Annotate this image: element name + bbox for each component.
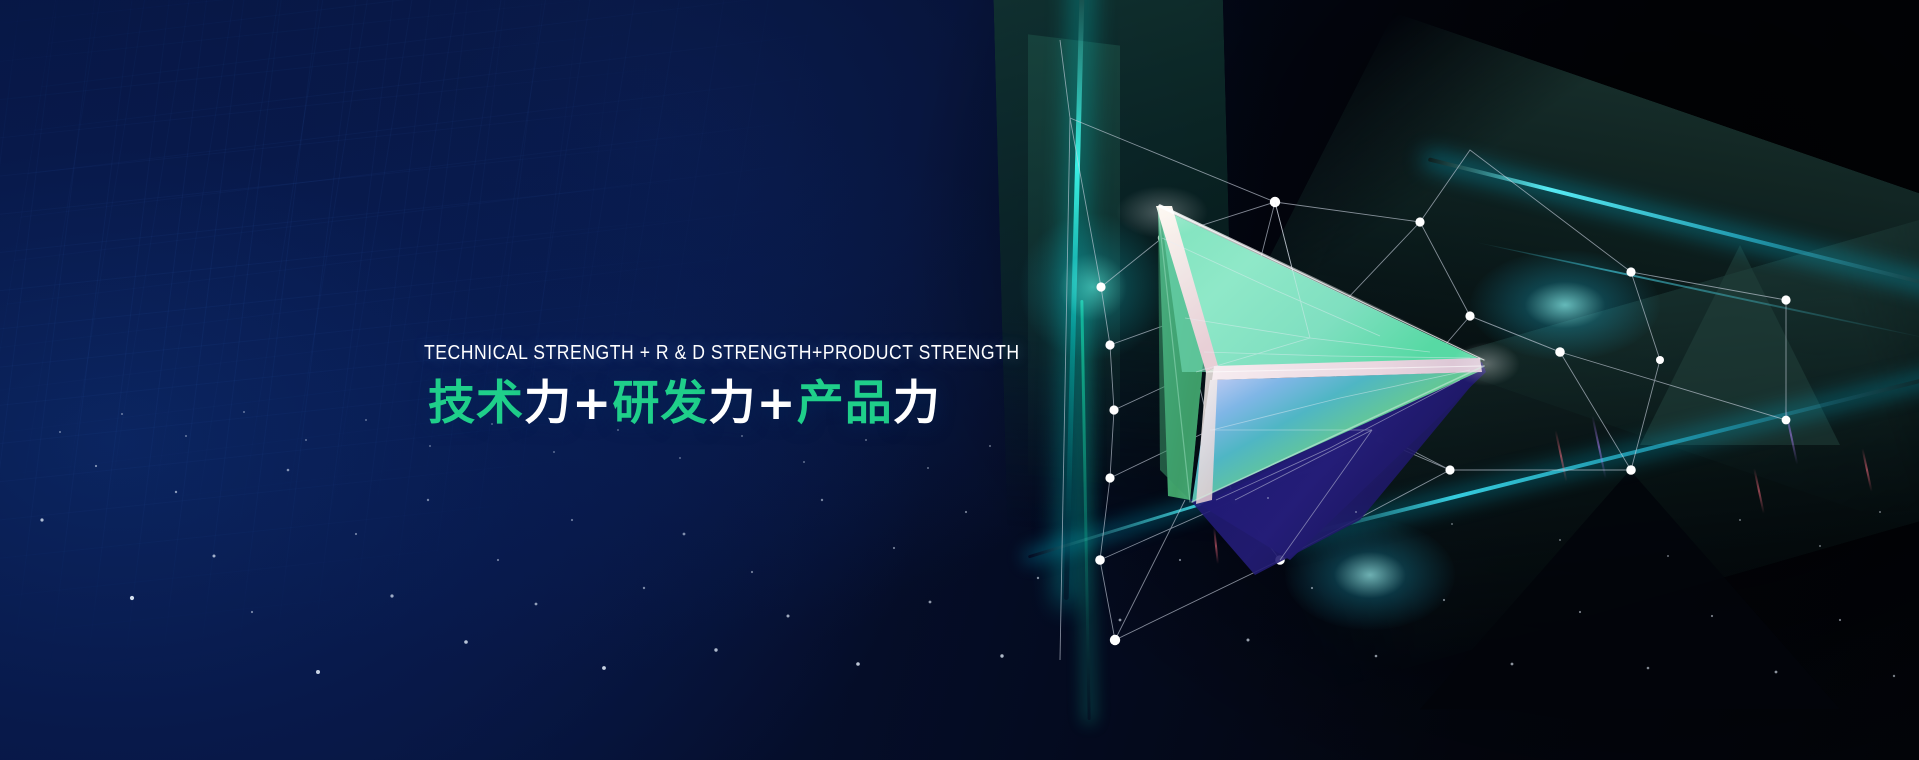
headline-segment: 力 (524, 376, 572, 431)
headline-segment: 研发 (612, 376, 708, 431)
headline-segment: 力 (708, 376, 756, 431)
headline-segment: 技术 (428, 376, 524, 431)
headline-segment: + (572, 376, 612, 431)
hero-copy: TECHNICAL STRENGTH + R & D STRENGTH+PROD… (424, 340, 1064, 431)
headline-segment: + (756, 376, 796, 431)
hero-banner: TECHNICAL STRENGTH + R & D STRENGTH+PROD… (0, 0, 1919, 760)
hero-headline: 技术力+研发力+产品力 (428, 377, 1064, 431)
headline-segment: 产品 (797, 376, 893, 431)
hero-eyebrow: TECHNICAL STRENGTH + R & D STRENGTH+PROD… (424, 340, 987, 366)
headline-segment: 力 (893, 376, 941, 431)
